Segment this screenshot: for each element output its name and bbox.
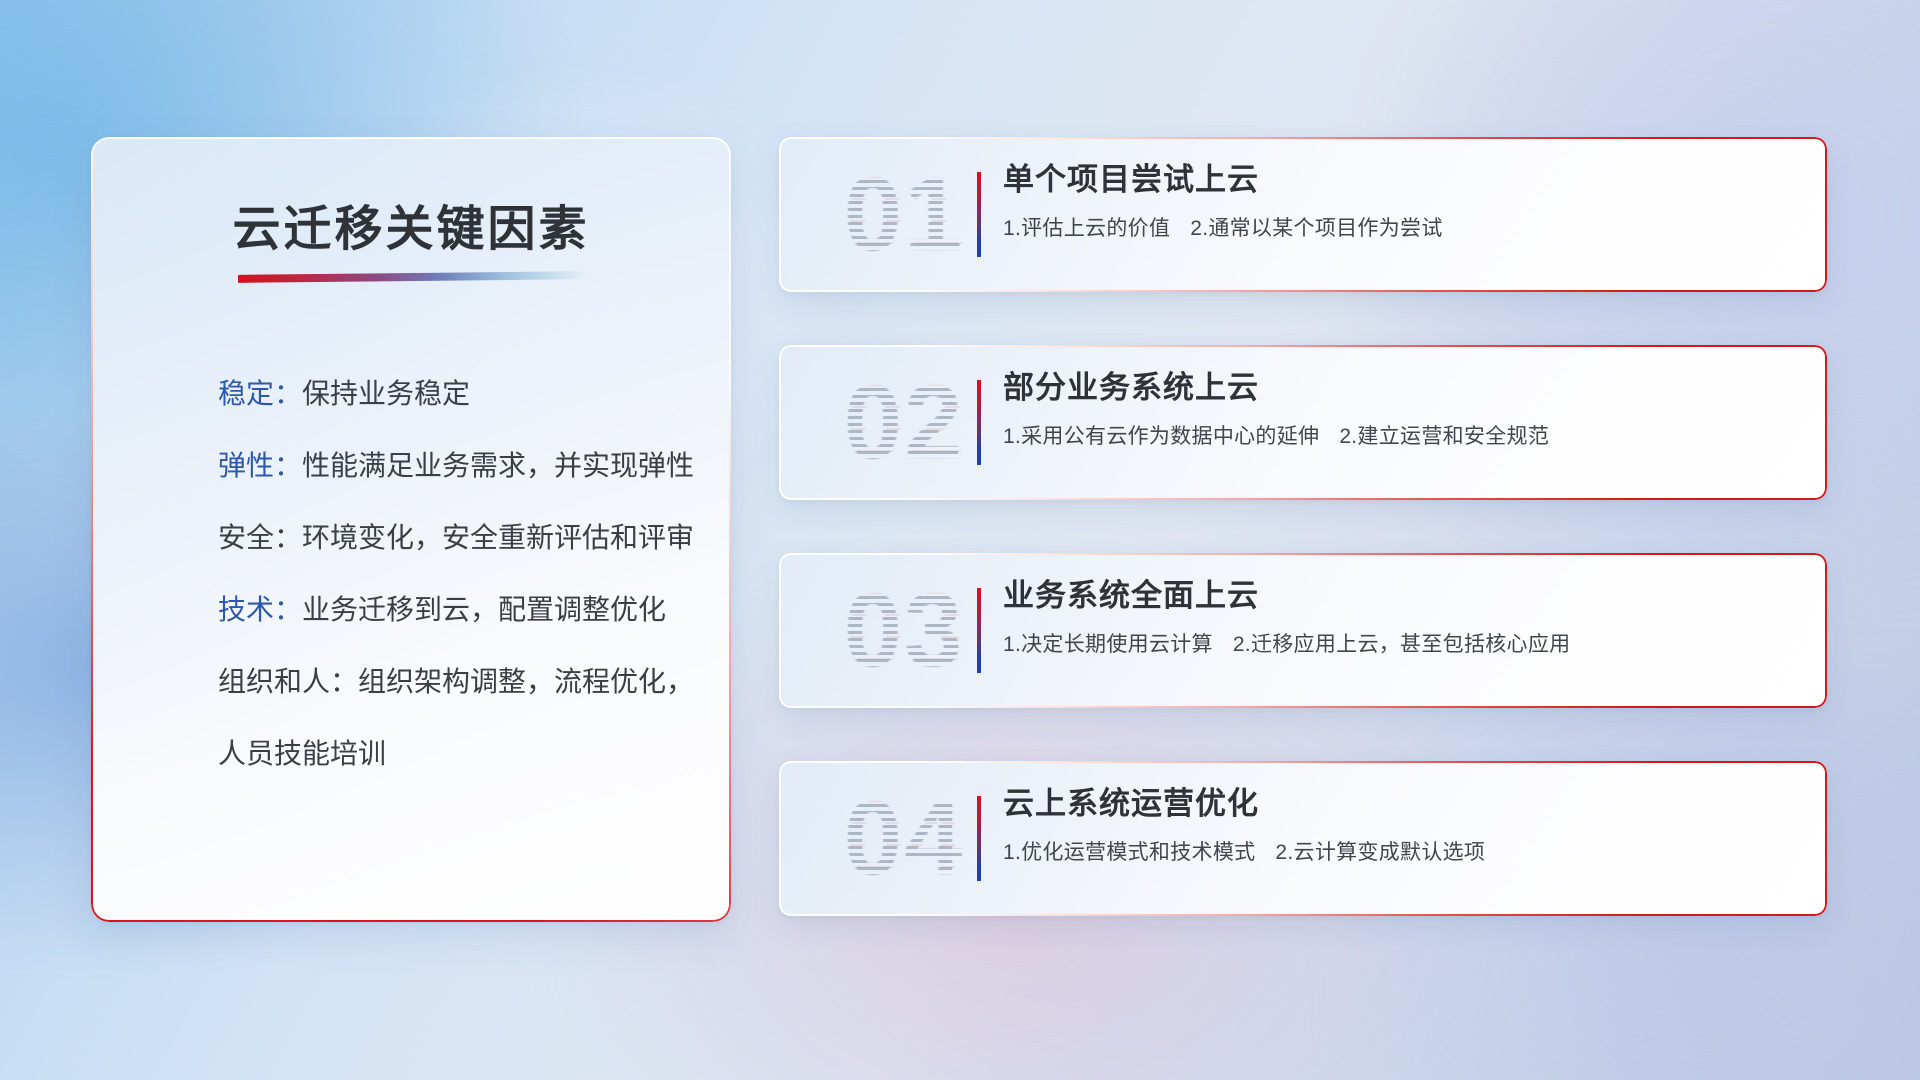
list-item: 技术：业务迁移到云，配置调整优化 [218,596,693,624]
list-item-text: 性能满足业务需求，并实现弹性 [302,450,694,481]
stage-card-03[interactable]: 03 03 业务系统全面上云 1.决定长期使用云计算2.迁移应用上云，甚至包括核… [779,553,1827,708]
stage-points: 1.采用公有云作为数据中心的延伸2.建立运营和安全规范 [1003,420,1807,450]
stage-point-2: 2.建立运营和安全规范 [1339,425,1549,448]
stage-number: 02 [809,353,999,493]
stage-point-2: 2.云计算变成默认选项 [1275,841,1485,864]
stage-card-01[interactable]: 01 01 单个项目尝试上云 1.评估上云的价值2.通常以某个项目作为尝试 [779,137,1827,292]
list-item-text: 组织架构调整，流程优化， [358,666,694,697]
stage-title: 业务系统全面上云 [1003,577,1807,616]
stage-point-1: 1.评估上云的价值 [1003,217,1170,240]
stage-card-body: 业务系统全面上云 1.决定长期使用云计算2.迁移应用上云，甚至包括核心应用 [1003,577,1807,658]
stage-card-body: 部分业务系统上云 1.采用公有云作为数据中心的延伸2.建立运营和安全规范 [1003,369,1807,450]
stage-point-1: 1.优化运营模式和技术模式 [1003,841,1255,864]
list-item-label: 安全： [218,522,302,553]
stage-point-2: 2.通常以某个项目作为尝试 [1190,217,1442,240]
list-item-text: 人员技能培训 [218,738,386,769]
list-item-text: 保持业务稳定 [302,378,470,409]
stage-accent-bar [977,380,981,465]
stage-points: 1.优化运营模式和技术模式2.云计算变成默认选项 [1003,836,1807,866]
stage-title: 部分业务系统上云 [1003,369,1807,408]
list-item: 组织和人：组织架构调整，流程优化， [218,668,693,696]
stage-accent-bar [977,796,981,881]
page-title: 云迁移关键因素 [91,189,731,259]
stage-point-1: 1.采用公有云作为数据中心的延伸 [1003,425,1319,448]
stage-number: 03 [809,561,999,701]
list-item: 人员技能培训 [218,740,693,768]
list-item-text: 业务迁移到云，配置调整优化 [302,594,666,625]
stage-points: 1.决定长期使用云计算2.迁移应用上云，甚至包括核心应用 [1003,628,1807,658]
stage-card-02[interactable]: 02 02 部分业务系统上云 1.采用公有云作为数据中心的延伸2.建立运营和安全… [779,345,1827,500]
list-item: 稳定：保持业务稳定 [218,380,693,408]
stage-title: 单个项目尝试上云 [1003,161,1807,200]
stage-accent-bar [977,588,981,673]
list-item-text: 环境变化，安全重新评估和评审 [302,522,694,553]
list-item-label: 组织和人： [218,666,358,697]
stage-card-04[interactable]: 04 04 云上系统运营优化 1.优化运营模式和技术模式2.云计算变成默认选项 [779,761,1827,916]
stage-number: 01 [809,145,999,285]
list-item-label: 弹性： [218,450,302,481]
list-item: 安全：环境变化，安全重新评估和评审 [218,524,693,552]
stage-title: 云上系统运营优化 [1003,785,1807,824]
stage-point-1: 1.决定长期使用云计算 [1003,633,1213,656]
stage-card-body: 云上系统运营优化 1.优化运营模式和技术模式2.云计算变成默认选项 [1003,785,1807,866]
stage-card-body: 单个项目尝试上云 1.评估上云的价值2.通常以某个项目作为尝试 [1003,161,1807,242]
stage-points: 1.评估上云的价值2.通常以某个项目作为尝试 [1003,212,1807,242]
list-item-label: 技术： [218,594,302,625]
stage-number: 04 [809,769,999,909]
key-factors-list: 稳定：保持业务稳定 弹性：性能满足业务需求，并实现弹性 安全：环境变化，安全重新… [218,380,693,768]
list-item-label: 稳定： [218,378,302,409]
title-underline-accent [238,271,588,283]
key-factors-panel: 云迁移关键因素 稳定：保持业务稳定 弹性：性能满足业务需求，并实现弹性 安全：环… [91,137,731,922]
migration-stages-list: 01 01 单个项目尝试上云 1.评估上云的价值2.通常以某个项目作为尝试 02… [779,137,1827,916]
stage-point-2: 2.迁移应用上云，甚至包括核心应用 [1233,633,1571,656]
stage-accent-bar [977,172,981,257]
list-item: 弹性：性能满足业务需求，并实现弹性 [218,452,693,480]
